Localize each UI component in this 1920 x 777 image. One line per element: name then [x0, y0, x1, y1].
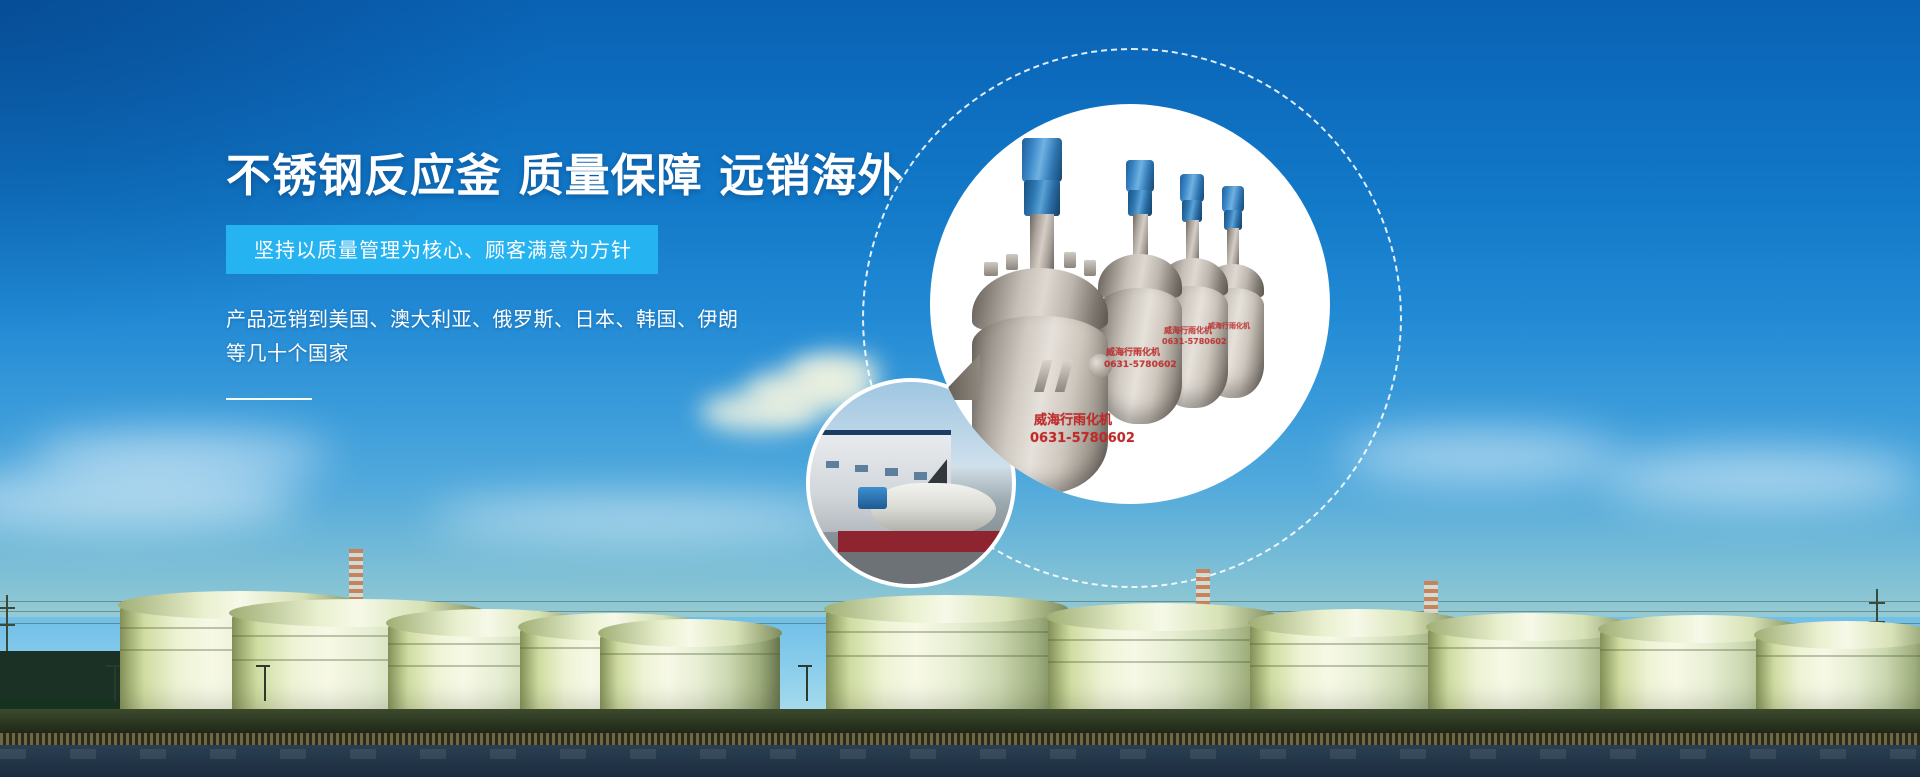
page-title: 不锈钢反应釜 质量保障 远销海外	[226, 152, 1006, 199]
banner-copy: 不锈钢反应釜 质量保障 远销海外 坚持以质量管理为核心、顾客满意为方针 产品远销…	[226, 152, 1006, 400]
cloud-icon	[1600, 450, 1920, 506]
reactor-motor-icon	[1222, 186, 1244, 212]
street-lamp-icon	[806, 665, 808, 701]
reactor-gearbox-icon	[1182, 200, 1202, 222]
storage-tank	[826, 609, 1066, 715]
reactor-motor-icon	[1180, 174, 1204, 202]
product-brand-text-2: 威海行雨化机	[1106, 348, 1160, 358]
reactor-motor-icon	[1022, 138, 1062, 182]
promo-banner: 威海行雨化机 0631-5780602 威海行雨化机 0631-5780602 …	[0, 0, 1920, 777]
shore-building	[0, 651, 140, 699]
product-brand-text: 威海行雨化机	[1034, 414, 1112, 429]
reactor-neck	[1030, 214, 1054, 276]
cloud-icon	[1340, 430, 1620, 482]
water-reflection	[0, 749, 1920, 759]
street-lamp-icon	[114, 665, 116, 701]
reactor-nozzle	[1064, 252, 1076, 268]
reactor-motor-icon	[1126, 160, 1154, 192]
product-brand-text-3: 威海行雨化机	[1164, 326, 1212, 335]
transmission-pylon-icon	[6, 595, 8, 659]
product-phone-text: 0631-5780602	[1030, 432, 1135, 447]
tank-farm-scenery	[0, 597, 1920, 777]
seawall	[0, 709, 1920, 735]
description-line-1: 产品远销到美国、澳大利亚、俄罗斯、日本、韩国、伊朗	[226, 302, 746, 336]
tagline-text: 坚持以质量管理为核心、顾客满意为方针	[254, 238, 632, 262]
description-line-2: 等几十个国家	[226, 336, 746, 370]
cloud-icon	[430, 498, 850, 538]
reactor-gearbox-icon	[1024, 180, 1060, 216]
reactor-gearbox-icon	[1128, 190, 1152, 216]
product-brand-text-4: 威海行雨化机	[1208, 322, 1250, 330]
waterfront	[0, 745, 1920, 777]
banner-description: 产品远销到美国、澳大利亚、俄罗斯、日本、韩国、伊朗 等几十个国家	[226, 302, 746, 370]
reactor-nozzle	[1006, 254, 1018, 270]
product-phone-text-3: 0631-5780602	[1162, 337, 1227, 346]
tagline-highlight-bar: 坚持以质量管理为核心、顾客满意为方针	[226, 225, 658, 274]
reactor-gearbox-icon	[1224, 210, 1242, 230]
product-phone-text-2: 0631-5780602	[1104, 360, 1177, 370]
storage-tank	[1048, 617, 1276, 715]
inset-ground	[810, 552, 1012, 584]
inset-motor-icon	[858, 487, 886, 509]
storage-tank	[600, 633, 780, 715]
reactor-nozzle	[1084, 260, 1096, 276]
storage-tank	[1756, 635, 1920, 715]
divider	[226, 398, 312, 400]
inset-red-trailer	[838, 531, 1000, 551]
street-lamp-icon	[264, 665, 266, 701]
